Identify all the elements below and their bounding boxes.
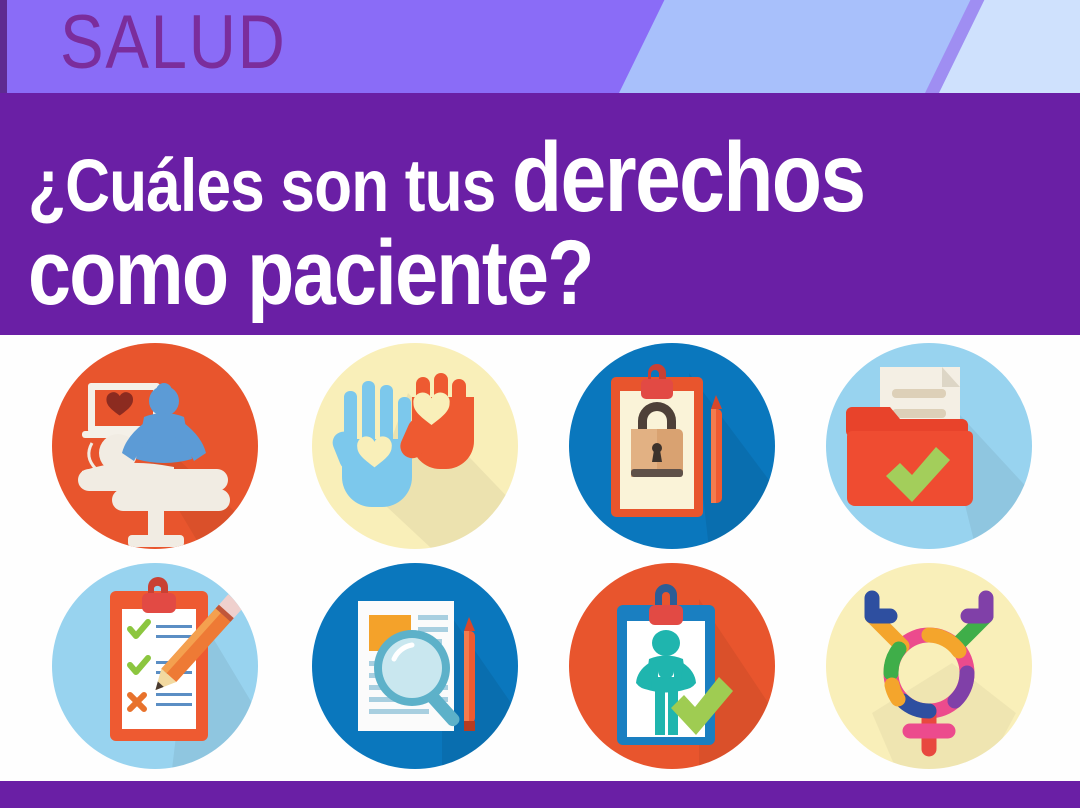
clipboard-padlock-icon	[569, 343, 775, 549]
headline-line-1-lead: ¿Cuáles son tus	[28, 144, 512, 227]
icon-circle-approved-file	[826, 343, 1032, 549]
icon-circle-quality-care	[569, 563, 775, 769]
icon-circle-confidential-records	[569, 343, 775, 549]
kicker-left-accent-strip	[0, 0, 7, 93]
icon-cell-approved-file[interactable]	[826, 343, 1032, 549]
kicker-banner: SALUD	[0, 0, 1080, 93]
headline-block: ¿Cuáles son tus derechos como paciente?	[0, 93, 1080, 335]
headline-line-1: ¿Cuáles son tus derechos	[28, 121, 865, 234]
transgender-symbol-icon	[826, 563, 1032, 769]
caring-hands-icon	[312, 343, 518, 549]
infographic-poster: SALUD ¿Cuáles son tus derechos como paci…	[0, 0, 1080, 808]
clipboard-person-trophy-icon	[569, 563, 775, 769]
footer-bar	[0, 781, 1080, 808]
icon-circle-gender-identity	[826, 563, 1032, 769]
kicker-label: SALUD	[60, 0, 287, 89]
icon-grid	[0, 335, 1080, 781]
icon-circle-patient-examination	[52, 343, 258, 549]
icon-cell-records-review[interactable]	[312, 563, 518, 769]
icon-circle-consent-checklist	[52, 563, 258, 769]
document-magnifier-icon	[312, 563, 518, 769]
folder-check-icon	[826, 343, 1032, 549]
icon-cell-confidential-records[interactable]	[569, 343, 775, 549]
icon-circle-caring-hands	[312, 343, 518, 549]
icon-circle-records-review	[312, 563, 518, 769]
icon-cell-consent-checklist[interactable]	[52, 563, 258, 769]
icon-cell-gender-identity[interactable]	[826, 563, 1032, 769]
icon-cell-patient-examination[interactable]	[52, 343, 258, 549]
patient-examination-icon	[52, 343, 258, 549]
headline-line-2: como paciente?	[28, 221, 593, 326]
headline-line-1-emphasis: derechos	[512, 122, 865, 232]
icon-cell-quality-care[interactable]	[569, 563, 775, 769]
checklist-clipboard-icon	[52, 563, 258, 769]
icon-cell-caring-hands[interactable]	[312, 343, 518, 549]
